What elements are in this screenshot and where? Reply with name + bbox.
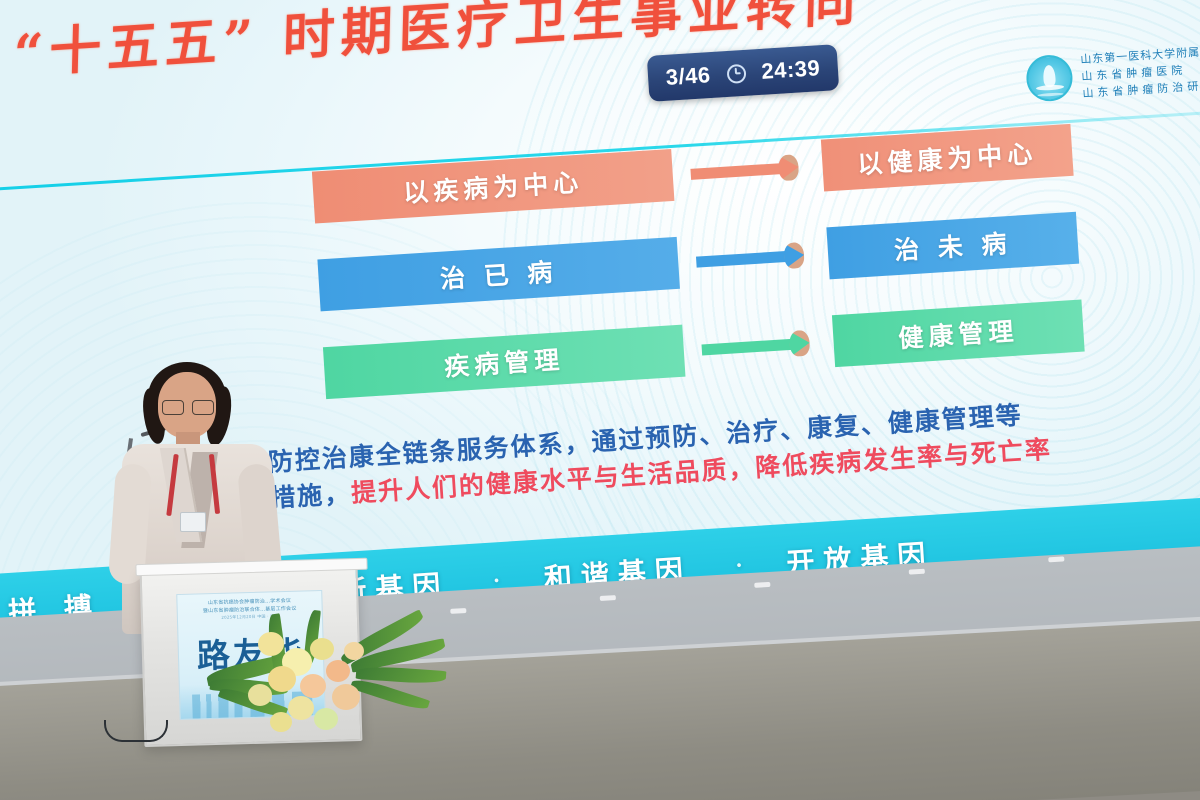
podium-cable xyxy=(104,720,168,742)
diagram-to-box: 治 未 病 xyxy=(826,212,1079,280)
flower-arrangement xyxy=(214,622,444,742)
badge-card xyxy=(180,512,206,532)
diagram-to-box: 健康管理 xyxy=(832,300,1085,368)
slide-title: “十五五” 时期医疗卫生事业转向 xyxy=(13,0,1113,87)
slide-counter: 3/46 xyxy=(665,62,711,91)
water-drop-circle-logo-icon xyxy=(1025,54,1074,103)
diagram-from-box: 疾病管理 xyxy=(323,325,686,400)
floor-marker xyxy=(1048,556,1064,562)
right-arrow-icon xyxy=(695,241,816,274)
conference-hall-scene: “十五五” 时期医疗卫生事业转向 山东第一医科大学附属肿瘤医院 山东省肿瘤医院 … xyxy=(0,0,1200,800)
transition-diagram: 以疾病为中心 以健康为中心 治 已 病 治 未 病 xyxy=(312,124,1086,421)
hospital-logo-text: 山东第一医科大学附属肿瘤医院 山东省肿瘤医院 山东省肿瘤防治研究院 xyxy=(1080,41,1200,101)
right-arrow-icon xyxy=(701,329,822,362)
diagram-row: 治 已 病 治 未 病 xyxy=(317,212,1079,318)
floor-marker xyxy=(600,595,616,601)
diagram-row: 疾病管理 健康管理 xyxy=(323,300,1085,406)
floor-marker xyxy=(450,608,466,614)
diagram-from-box: 以疾病为中心 xyxy=(312,149,675,224)
diagram-from-box: 治 已 病 xyxy=(317,237,680,312)
clock-icon xyxy=(726,63,746,83)
hospital-logo: 山东第一医科大学附属肿瘤医院 山东省肿瘤医院 山东省肿瘤防治研究院 xyxy=(1025,41,1200,105)
speaker-at-podium: 山东省抗癌协会肿瘤防治…学术会议 暨山东省肿瘤防治联合体…基层工作会议 2025… xyxy=(96,360,366,740)
diagram-row: 以疾病为中心 以健康为中心 xyxy=(312,124,1074,230)
right-arrow-icon xyxy=(690,153,811,186)
floor-marker xyxy=(909,569,925,575)
glasses-icon xyxy=(162,400,214,413)
floor-marker xyxy=(754,582,770,588)
timer-value: 24:39 xyxy=(761,55,821,85)
